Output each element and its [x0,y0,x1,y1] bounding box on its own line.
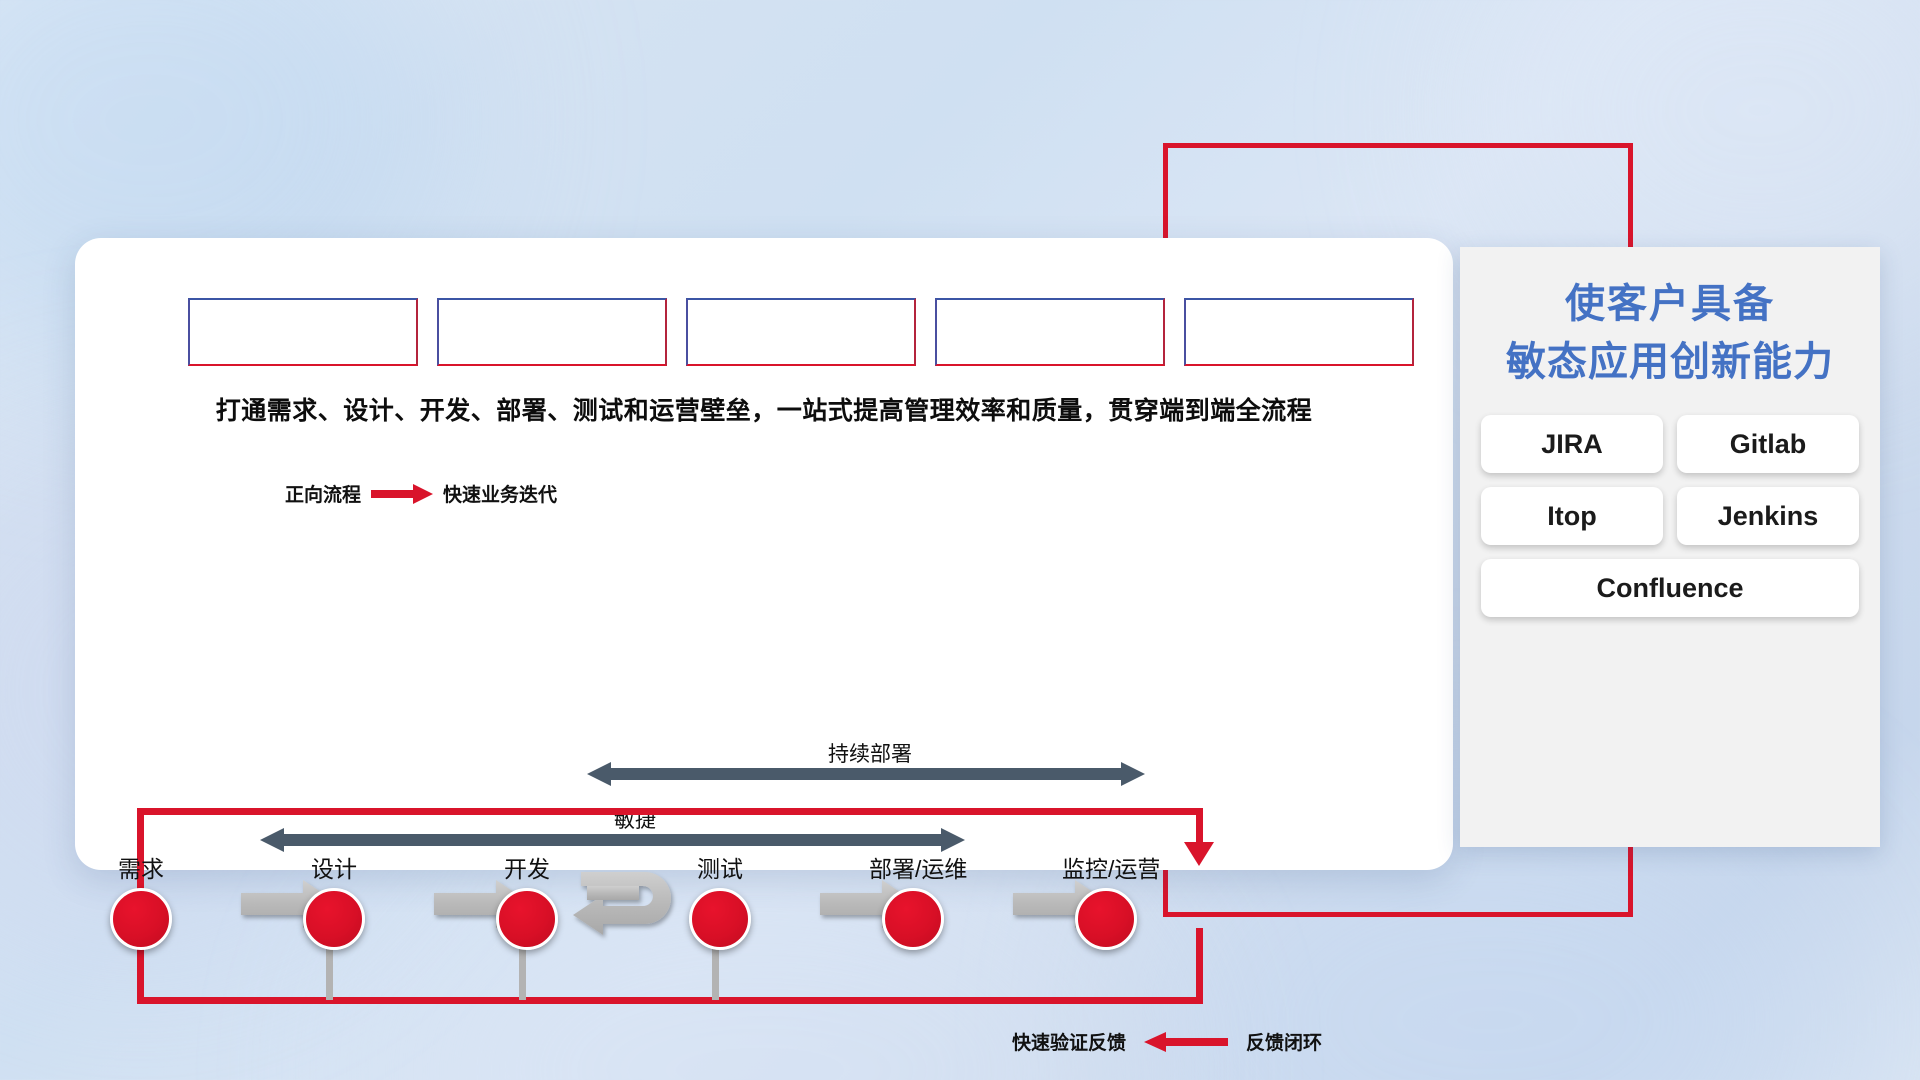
role-chip-label: 测试者 [759,314,843,351]
stage-dot-icon [689,888,751,950]
stage-node-1[interactable]: 需求 [97,850,185,950]
stage-node-3[interactable]: 开发 [483,850,571,950]
stage-label: 测试 [676,850,764,884]
continuous-deployment-double-arrow [587,762,1145,786]
legend-feedback-to-label: 快速验证反馈 [1012,1028,1126,1055]
side-panel-title: 使客户具备 敏态应用创新能力 [1460,275,1880,391]
devops-flow-card: 管理者开发者测试者运维者运营者 打通需求、设计、开发、部署、测试和运营壁垒，一站… [75,238,1453,870]
tool-tag-itop[interactable]: Itop [1481,487,1663,545]
stage-dot-icon [882,888,944,950]
tool-tag-gitlab[interactable]: Gitlab [1677,415,1859,473]
role-chip-label: 管理者 [261,314,345,351]
tool-tag-list: JIRAGitlabItopJenkinsConfluence [1460,415,1880,617]
role-chip-label: 运维者 [1008,314,1092,351]
stage-node-6[interactable]: 监控/运营 [1062,850,1150,950]
role-chip-label: 运营者 [1257,314,1341,351]
legend-feedback-from-label: 反馈闭环 [1246,1028,1322,1055]
stage-label: 开发 [483,850,571,884]
stage-label: 部署/运维 [869,850,957,884]
capability-side-panel: 使客户具备 敏态应用创新能力 JIRAGitlabItopJenkinsConf… [1460,247,1880,847]
stage-label: 监控/运营 [1062,850,1150,884]
red-left-arrow-icon [1144,1032,1228,1052]
stage-node-4[interactable]: 测试 [676,850,764,950]
stage-label: 需求 [97,850,185,884]
stage-dot-icon [1075,888,1137,950]
stage-node-5[interactable]: 部署/运维 [869,850,957,950]
role-chip-label: 开发者 [510,314,594,351]
stage-row: 需求设计开发测试部署/运维监控/运营 [75,850,1453,980]
tool-tag-jira[interactable]: JIRA [1481,415,1663,473]
side-panel-title-line1: 使客户具备 [1460,275,1880,333]
tool-tag-jenkins[interactable]: Jenkins [1677,487,1859,545]
stage-dot-icon [496,888,558,950]
agile-double-arrow [260,828,965,852]
legend-feedback-loop: 快速验证反馈 反馈闭环 [1012,1028,1322,1055]
side-panel-title-line2: 敏态应用创新能力 [1460,333,1880,391]
stage-dot-icon [303,888,365,950]
stage-label: 设计 [290,850,378,884]
stage-dot-icon [110,888,172,950]
stage-node-2[interactable]: 设计 [290,850,378,950]
tool-tag-confluence[interactable]: Confluence [1481,559,1859,617]
